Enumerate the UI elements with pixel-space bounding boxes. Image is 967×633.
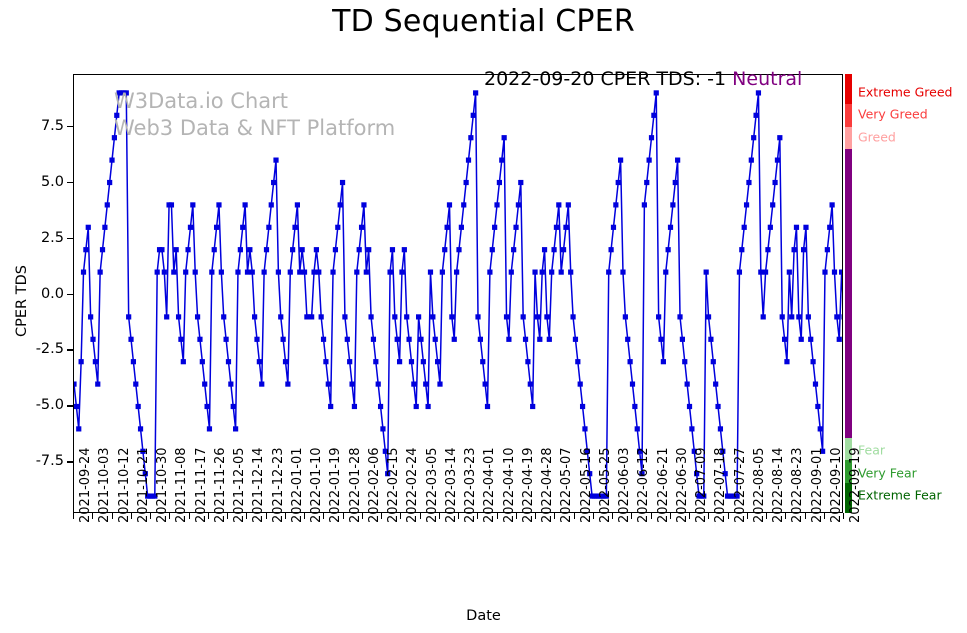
series-marker [456,247,461,252]
x-axis-tick-label: 2022-05-16 [579,447,594,523]
series-marker [625,337,630,342]
series-marker [376,381,381,386]
series-marker [758,270,763,275]
x-axis-tick-mark [73,513,74,519]
series-marker [340,180,345,185]
series-marker [490,247,495,252]
x-axis-tick-label: 2022-07-09 [694,447,709,523]
series-marker [647,158,652,163]
x-axis-tick-label: 2022-08-05 [752,447,767,523]
series-marker [466,158,471,163]
series-marker [124,90,129,95]
series-marker [744,202,749,207]
series-marker [623,314,628,319]
series-marker [532,270,537,275]
series-marker [573,337,578,342]
series-marker [190,202,195,207]
x-axis-tick-mark [227,513,228,519]
series-marker [238,247,243,252]
series-marker [328,404,333,409]
series-marker [837,337,842,342]
series-marker [675,158,680,163]
series-marker [449,314,454,319]
series-marker [426,404,431,409]
x-axis-tick-mark [766,513,767,519]
series-marker [83,247,88,252]
series-marker [200,359,205,364]
x-axis-tick-mark [458,513,459,519]
series-marker [235,270,240,275]
x-axis-tick-label: 2021-10-21 [136,447,151,523]
series-marker [254,337,259,342]
x-axis-tick-label: 2022-08-23 [790,447,805,523]
x-axis-tick-mark [651,513,652,519]
y-axis-tick-mark [67,294,73,295]
x-axis-tick-mark [131,513,132,519]
series-marker [513,225,518,230]
series-marker [806,314,811,319]
series-marker [780,314,785,319]
series-marker [361,202,366,207]
series-marker [128,337,133,342]
cper-tds-line-series [74,75,842,512]
x-axis-tick-label: 2022-07-27 [733,447,748,523]
series-marker [803,225,808,230]
series-marker [618,158,623,163]
annotation-text: 2022-09-20 CPER TDS: -1 [484,68,726,90]
series-marker [440,270,445,275]
series-marker [159,247,164,252]
zone-label-extreme-greed: Extreme Greed [858,84,952,99]
series-marker [366,247,371,252]
series-marker [447,202,452,207]
series-marker [825,247,830,252]
series-marker [74,404,79,409]
series-marker [753,113,758,118]
x-axis-tick-label: 2022-06-30 [675,447,690,523]
y-axis-tick-labels: 7.55.02.50.0-2.5-5.0-7.5 [0,0,64,633]
x-axis-tick-mark [169,513,170,519]
series-marker [212,247,217,252]
series-marker [763,270,768,275]
series-marker [787,270,792,275]
x-axis-tick-label: 2021-09-24 [78,447,93,523]
x-axis-tick-label: 2022-04-19 [521,447,536,523]
series-marker [791,247,796,252]
series-marker [704,270,709,275]
series-marker [483,381,488,386]
series-marker [107,180,112,185]
y-axis-tick-label: 7.5 [41,118,64,134]
series-marker [504,314,509,319]
zone-seg-very-greed [845,104,852,126]
series-marker [406,337,411,342]
series-marker [368,314,373,319]
series-marker [770,202,775,207]
series-marker [112,135,117,140]
x-axis-tick-mark [477,513,478,519]
series-marker [364,270,369,275]
series-marker [188,225,193,230]
series-marker [718,426,723,431]
series-marker [323,359,328,364]
series-marker [421,359,426,364]
series-marker [530,404,535,409]
series-marker [183,270,188,275]
series-marker [411,381,416,386]
series-marker [494,202,499,207]
series-marker [395,337,400,342]
series-marker [247,247,252,252]
series-marker [606,270,611,275]
series-marker [342,314,347,319]
series-marker [100,247,105,252]
series-marker [687,404,692,409]
series-marker [680,337,685,342]
series-marker [330,270,335,275]
series-marker [316,270,321,275]
series-marker [468,135,473,140]
series-marker [777,135,782,140]
series-marker [518,180,523,185]
series-marker [666,247,671,252]
series-marker [273,158,278,163]
series-marker [109,158,114,163]
series-marker [540,270,545,275]
series-marker [502,135,507,140]
series-marker [775,158,780,163]
series-marker [551,247,556,252]
x-axis-tick-mark [728,513,729,519]
series-marker [81,270,86,275]
series-marker [428,270,433,275]
series-marker [138,426,143,431]
x-axis-tick-label: 2022-04-28 [540,447,555,523]
series-marker [373,359,378,364]
series-marker [516,202,521,207]
series-marker [105,202,110,207]
series-marker [737,270,742,275]
x-axis-tick-label: 2022-08-14 [771,447,786,523]
series-marker [387,270,392,275]
page-title: TD Sequential CPER [0,4,967,39]
series-marker [359,225,364,230]
zone-label-very-greed: Very Greed [858,107,928,122]
x-axis-tick-label: 2022-09-10 [829,447,844,523]
series-marker [221,314,226,319]
latest-value-annotation: 2022-09-20 CPER TDS: -1 Neutral [484,68,802,90]
series-marker [250,270,255,275]
series-marker [433,337,438,342]
series-marker [715,404,720,409]
series-marker [349,381,354,386]
series-marker [219,270,224,275]
series-marker [333,247,338,252]
y-axis-tick-label: -5.0 [36,397,64,413]
series-marker [523,337,528,342]
series-marker [651,113,656,118]
series-marker [93,359,98,364]
series-marker [311,270,316,275]
series-marker [257,359,262,364]
series-marker [658,337,663,342]
x-axis-tick-mark [516,513,517,519]
series-marker [178,337,183,342]
series-marker [613,202,618,207]
series-marker [193,270,198,275]
series-marker [772,180,777,185]
series-marker [418,337,423,342]
series-marker [228,381,233,386]
series-marker [314,247,319,252]
series-marker [352,404,357,409]
series-marker [506,337,511,342]
series-marker [90,337,95,342]
x-axis-tick-mark [92,513,93,519]
series-marker [528,381,533,386]
series-marker [811,359,816,364]
y-axis-tick-label: -2.5 [36,341,64,357]
series-marker [749,158,754,163]
series-marker [813,381,818,386]
series-marker [561,247,566,252]
series-marker [278,314,283,319]
series-marker [799,337,804,342]
x-axis-tick-label: 2021-11-26 [213,447,228,523]
x-axis-tick-mark [304,513,305,519]
x-axis-tick-mark [285,513,286,519]
series-marker [392,314,397,319]
series-marker [789,314,794,319]
series-marker [834,314,839,319]
series-marker [195,314,200,319]
series-marker [464,180,469,185]
series-marker [164,314,169,319]
series-marker [283,359,288,364]
series-marker [171,270,176,275]
series-marker [644,180,649,185]
series-marker [568,270,573,275]
x-axis-tick-label: 2021-11-08 [174,447,189,523]
series-marker [559,270,564,275]
series-marker [706,314,711,319]
series-marker [668,225,673,230]
series-marker [815,404,820,409]
series-marker [677,314,682,319]
series-marker [685,381,690,386]
series-marker [169,202,174,207]
y-axis-tick-mark [67,182,73,183]
series-marker [162,270,167,275]
series-marker [661,359,666,364]
series-marker [509,270,514,275]
series-marker [297,270,302,275]
x-axis-tick-mark [805,513,806,519]
series-marker [224,337,229,342]
series-marker [471,113,476,118]
series-marker [794,225,799,230]
series-marker [454,270,459,275]
series-marker [547,337,552,342]
x-axis-tick-label: 2022-02-15 [386,447,401,523]
y-axis-tick-label: -7.5 [36,453,64,469]
series-marker [656,314,661,319]
series-marker [133,381,138,386]
series-marker [796,314,801,319]
series-marker [841,314,842,319]
x-axis-tick-label: 2022-02-24 [405,447,420,523]
y-axis-tick-mark [67,461,73,462]
series-marker [88,314,93,319]
series-marker [185,247,190,252]
series-marker [423,381,428,386]
series-marker [761,314,766,319]
x-axis-tick-mark [612,513,613,519]
series-marker [378,404,383,409]
series-marker [259,381,264,386]
x-axis-tick-mark [708,513,709,519]
x-axis-tick-mark [535,513,536,519]
series-marker [499,158,504,163]
series-marker [620,270,625,275]
series-marker [435,359,440,364]
series-marker [202,381,207,386]
series-marker [461,202,466,207]
series-marker [616,180,621,185]
series-marker [114,113,119,118]
series-marker [209,270,214,275]
x-axis-tick-label: 2022-07-18 [713,447,728,523]
series-marker [801,247,806,252]
series-marker [575,359,580,364]
series-marker [563,225,568,230]
series-marker [566,202,571,207]
series-marker [554,225,559,230]
x-axis-tick-mark [150,513,151,519]
series-marker [839,270,842,275]
series-marker [357,247,362,252]
series-marker [102,225,107,230]
x-axis-tick-label: 2022-04-01 [482,447,497,523]
series-marker [673,180,678,185]
series-marker [197,337,202,342]
series-marker [176,314,181,319]
x-axis-tick-mark [246,513,247,519]
x-axis-tick-label: 2022-03-05 [425,447,440,523]
x-axis-tick-label: 2022-01-10 [309,447,324,523]
series-marker [252,314,257,319]
series-marker [742,225,747,230]
chart-root: TD Sequential CPER CPER TDS 7.55.02.50.0… [0,0,967,633]
series-marker [276,270,281,275]
series-marker [404,314,409,319]
x-axis-tick-label: 2021-11-17 [194,447,209,523]
series-marker [521,314,526,319]
y-axis-tick-mark [67,405,73,406]
series-marker [231,404,236,409]
x-axis-tick-label: 2022-06-21 [656,447,671,523]
series-marker [416,314,421,319]
series-marker [281,337,286,342]
series-marker [480,359,485,364]
x-axis-tick-mark [208,513,209,519]
series-marker [371,337,376,342]
series-marker [76,426,81,431]
series-marker [768,225,773,230]
series-marker [635,426,640,431]
x-axis-tick-label: 2021-12-14 [251,447,266,523]
series-marker [570,314,575,319]
x-axis-tick-mark [112,513,113,519]
y-axis-tick-mark [67,238,73,239]
x-axis-tick-mark [266,513,267,519]
zone-seg-greed [845,127,852,149]
x-axis-tick-mark [574,513,575,519]
x-axis-tick-mark [670,513,671,519]
series-marker [155,270,160,275]
series-marker [126,314,131,319]
series-marker [214,225,219,230]
series-marker [670,202,675,207]
series-marker [832,270,837,275]
series-marker [442,247,447,252]
series-marker [345,337,350,342]
x-axis-tick-mark [439,513,440,519]
series-marker [131,359,136,364]
zone-label-very-fear: Very Fear [858,465,917,480]
series-marker [216,202,221,207]
series-marker [414,404,419,409]
series-marker [452,337,457,342]
x-axis-tick-label: 2022-03-23 [463,447,478,523]
series-marker [295,202,300,207]
x-axis-tick-mark [593,513,594,519]
x-axis-tick-mark [497,513,498,519]
y-axis-tick-mark [67,126,73,127]
series-marker [380,426,385,431]
x-axis-title: Date [0,608,967,624]
plot-clip [74,75,842,512]
series-marker [98,270,103,275]
series-marker [240,225,245,230]
x-axis-tick-label: 2021-12-05 [232,447,247,523]
x-axis-tick-label: 2021-12-23 [271,447,286,523]
series-marker [226,359,231,364]
series-marker [245,270,250,275]
zone-label-extreme-fear: Extreme Fear [858,488,942,503]
series-marker [756,90,761,95]
x-axis-tick-label: 2022-06-03 [617,447,632,523]
series-marker [74,381,77,386]
series-marker [739,247,744,252]
series-marker [204,404,209,409]
series-marker [445,225,450,230]
series-marker [609,247,614,252]
series-marker [300,247,305,252]
series-marker [830,202,835,207]
x-axis-tick-mark [362,513,363,519]
series-marker [649,135,654,140]
series-marker [628,359,633,364]
series-marker [549,270,554,275]
x-axis-tick-mark [189,513,190,519]
series-marker [492,225,497,230]
series-marker [542,247,547,252]
series-marker [611,225,616,230]
x-axis-tick-mark [400,513,401,519]
x-axis-tick-label: 2022-01-19 [328,447,343,523]
series-marker [354,270,359,275]
